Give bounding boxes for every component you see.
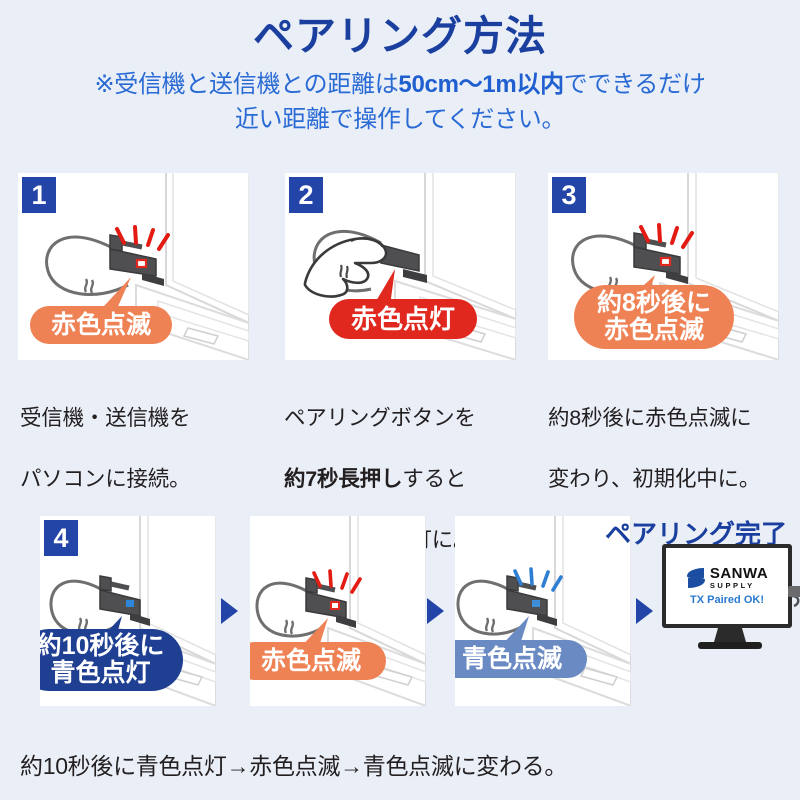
caption-2-line-2: すると	[402, 467, 466, 491]
step-badge-4: 4	[44, 520, 78, 556]
caption-2-bold-phrase: 約7秒長押し	[284, 467, 402, 491]
subtitle-line2: 近い距離で操作してください。	[235, 106, 565, 133]
caption-1-line-1: 受信機・送信機を	[20, 406, 190, 430]
flow-arrow-1	[221, 598, 238, 624]
caption-1-line-2: パソコンに接続。	[20, 467, 190, 491]
step-panel-3: 3	[548, 173, 779, 360]
step-badge-3: 3	[552, 177, 586, 213]
step-callout-6: 青色点滅	[455, 640, 587, 678]
page-title: ペアリング方法	[0, 0, 800, 59]
step-badge-2: 2	[289, 177, 323, 213]
step-panel-4: 4	[40, 516, 216, 706]
step-callout-1: 赤色点滅	[30, 306, 172, 344]
step-panel-5: 赤色点滅	[250, 516, 426, 706]
step-caption-3: 約8秒後に赤色点滅に 変わり、初期化中に。	[548, 372, 798, 494]
flow-arrow-3	[636, 598, 653, 624]
flow-arrow-2	[427, 598, 444, 624]
step-panel-1: 1	[18, 173, 249, 360]
caption-3-line-1: 約8秒後に赤色点滅に	[548, 406, 751, 430]
step-caption-1: 受信機・送信機を パソコンに接続。	[20, 372, 270, 494]
caption-2-line-1: ペアリングボタンを	[284, 406, 476, 430]
subtitle-line1: ※受信機と送信機との距離は50cm～1m以内でできるだけ	[94, 71, 705, 98]
tv-illustration: SANWA SUPPLY TX Paired OK!	[660, 516, 800, 706]
tv-paired-message: TX Paired OK!	[690, 594, 764, 606]
sanwa-brand-sub: SUPPLY	[710, 582, 768, 590]
step-badge-1: 1	[22, 177, 56, 213]
tv-screen-content: SANWA SUPPLY TX Paired OK!	[668, 550, 786, 622]
step-panel-2: 2	[285, 173, 516, 360]
step-callout-3: 約8秒後に 赤色点滅	[574, 285, 734, 349]
sanwa-logo-text: SANWA SUPPLY	[710, 566, 768, 590]
sanwa-logo: SANWA SUPPLY	[686, 566, 768, 590]
page-subtitle: ※受信機と送信機との距離は50cm～1m以内でできるだけ 近い距離で操作してくだ…	[0, 68, 800, 138]
subtitle-distance-value: 50cm～1m以内	[398, 71, 563, 98]
subtitle-text-post: でできるだけ	[564, 71, 706, 98]
steps-row-one: 1	[0, 173, 800, 363]
sanwa-brand-name: SANWA	[710, 566, 768, 581]
pairing-instruction-page: ペアリング方法 ※受信機と送信機との距離は50cm～1m以内でできるだけ 近い距…	[0, 0, 800, 800]
sanwa-logo-mark	[686, 567, 706, 589]
subtitle-text-pre: ※受信機と送信機との距離は	[94, 71, 398, 98]
caption-3-line-2: 変わり、初期化中に。	[548, 467, 760, 491]
step-callout-5: 赤色点滅	[250, 642, 386, 680]
footer-caption: 約10秒後に青色点灯→赤色点滅→青色点滅に変わる。 テレビ画面上に「TX Pai…	[20, 716, 800, 800]
footer-line-1: 約10秒後に青色点灯→赤色点滅→青色点滅に変わる。	[20, 753, 567, 779]
step-callout-4: 約10秒後に 青色点灯	[40, 629, 183, 691]
step-callout-2: 赤色点灯	[329, 299, 477, 339]
